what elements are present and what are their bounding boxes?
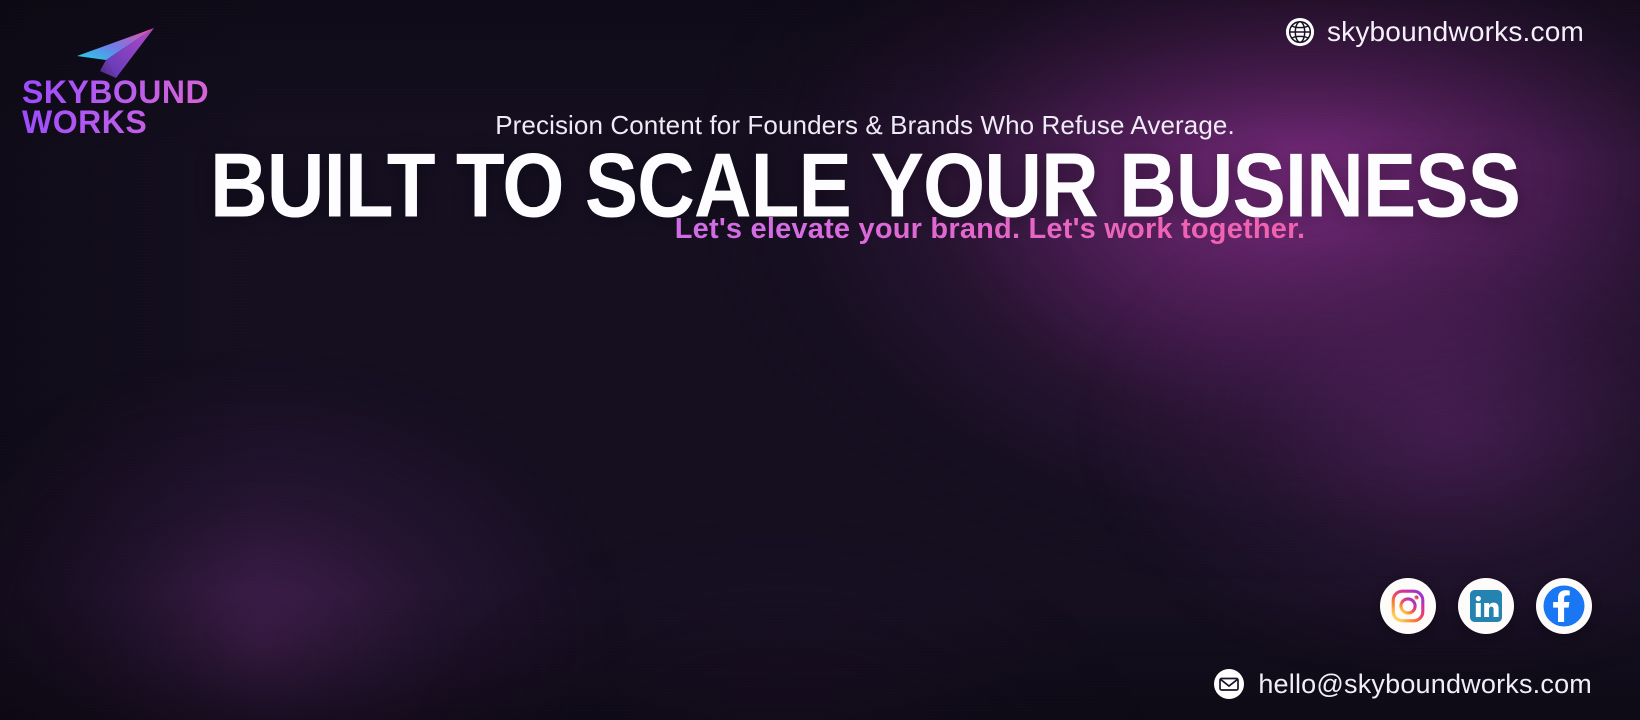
email-address: hello@skyboundworks.com xyxy=(1258,669,1592,700)
email-contact[interactable]: hello@skyboundworks.com xyxy=(1213,668,1592,700)
social-link-linkedin[interactable] xyxy=(1458,578,1514,634)
hero-banner: SKYBOUND WORKS skyboundworks.com Precisi… xyxy=(0,0,1640,720)
social-links xyxy=(1380,578,1592,634)
instagram-icon xyxy=(1390,588,1426,624)
linkedin-icon xyxy=(1468,588,1504,624)
envelope-icon xyxy=(1213,668,1245,700)
social-link-instagram[interactable] xyxy=(1380,578,1436,634)
website-link[interactable]: skyboundworks.com xyxy=(1285,16,1584,48)
facebook-icon xyxy=(1542,584,1586,628)
website-url: skyboundworks.com xyxy=(1327,16,1584,48)
globe-icon xyxy=(1285,17,1315,47)
hero-tagline: Let's elevate your brand. Let's work tog… xyxy=(0,213,1640,246)
social-link-facebook[interactable] xyxy=(1536,578,1592,634)
